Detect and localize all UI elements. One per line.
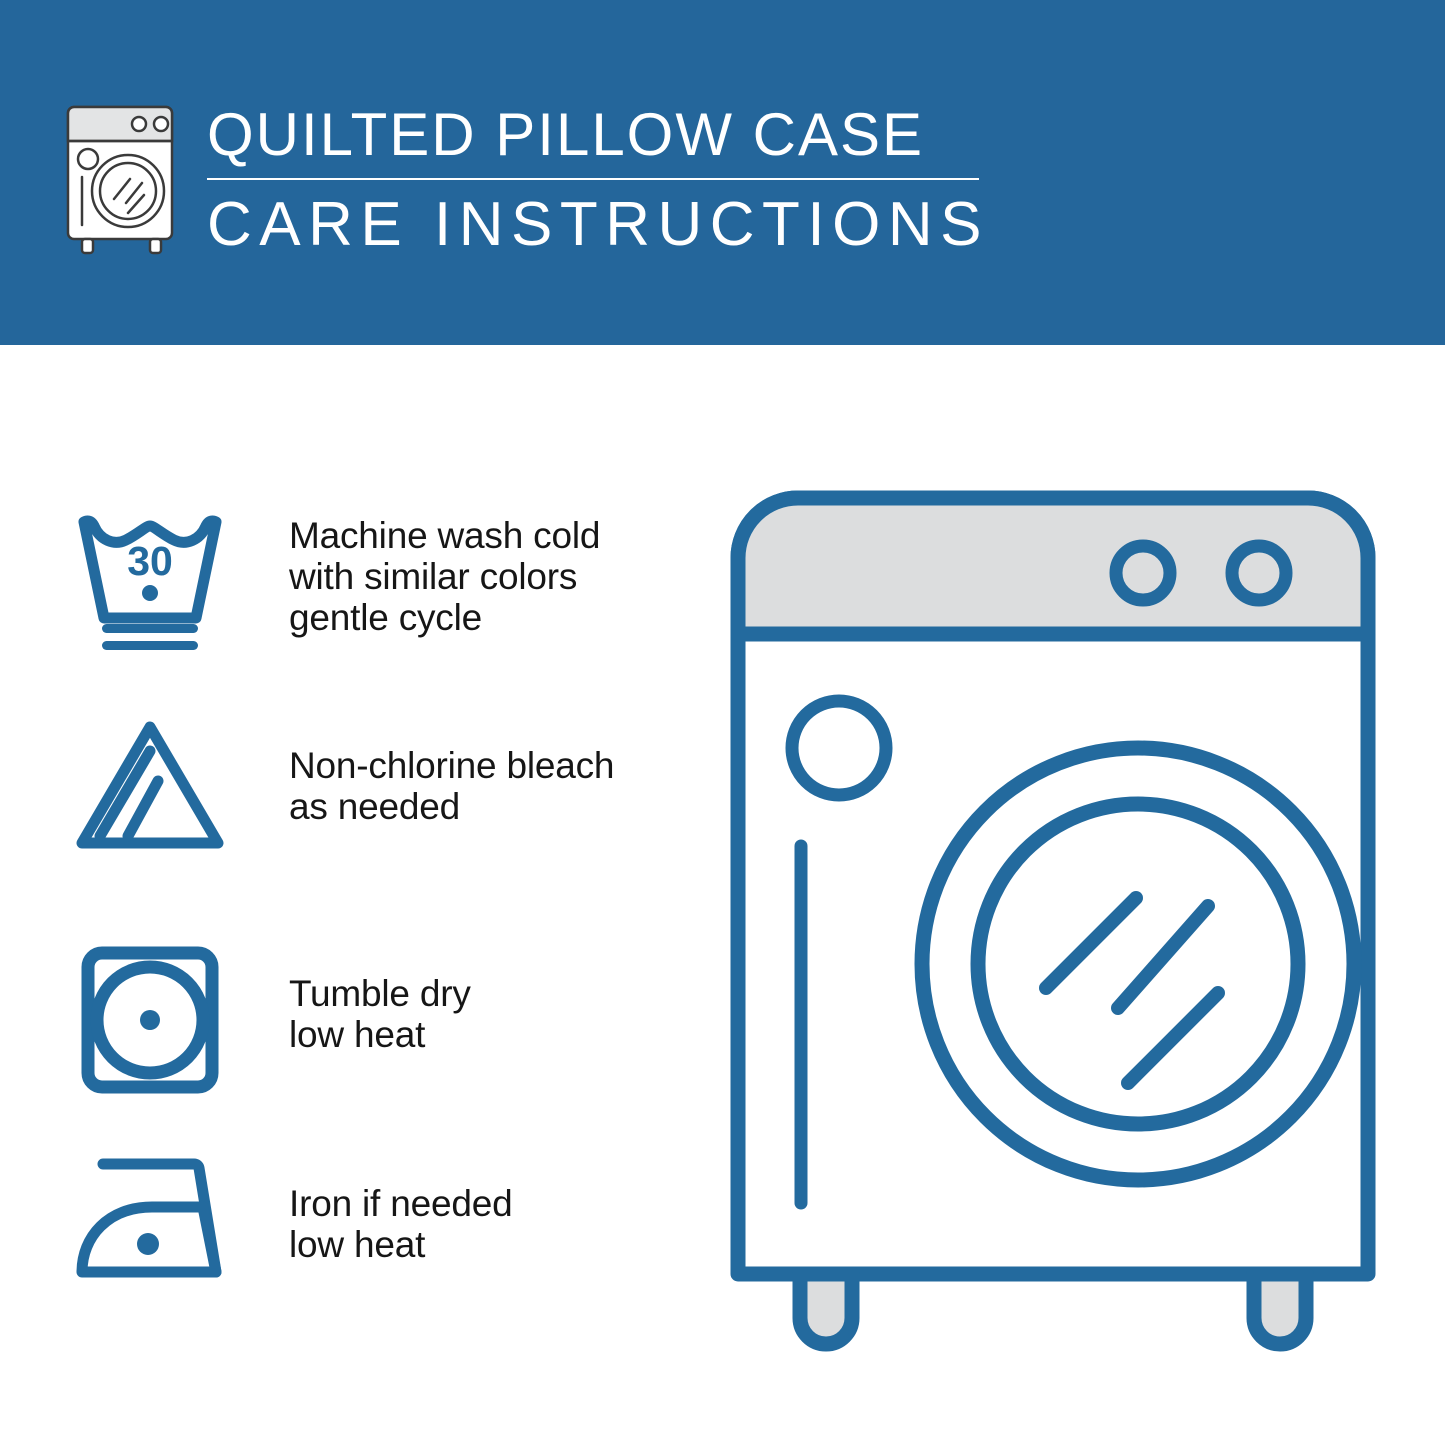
care-text-line: Iron if needed bbox=[289, 1183, 512, 1224]
care-instructions-page: QUILTED PILLOW CASE CARE INSTRUCTIONS 30… bbox=[0, 0, 1445, 1445]
care-text-line: Non-chlorine bleach bbox=[289, 745, 614, 786]
care-text-line: Tumble dry bbox=[289, 973, 471, 1014]
page-subtitle: CARE INSTRUCTIONS bbox=[207, 192, 997, 258]
knob-right bbox=[1232, 546, 1286, 600]
care-text-tumble-dry: Tumble dry low heat bbox=[289, 973, 471, 1055]
iron-low-heat-icon bbox=[70, 1145, 230, 1305]
care-text-line: gentle cycle bbox=[289, 597, 600, 638]
washing-machine-icon bbox=[62, 103, 184, 255]
detergent-dispenser-circle bbox=[792, 701, 886, 795]
care-text-line: low heat bbox=[289, 1224, 512, 1265]
page-title: QUILTED PILLOW CASE bbox=[207, 104, 997, 166]
tumble-dry-low-icon bbox=[70, 940, 230, 1100]
knob-left bbox=[1116, 546, 1170, 600]
title-divider bbox=[207, 178, 979, 180]
leg-right bbox=[1254, 1274, 1306, 1344]
non-chlorine-bleach-icon bbox=[70, 715, 230, 875]
care-text-line: low heat bbox=[289, 1014, 471, 1055]
leg-left bbox=[800, 1274, 852, 1344]
care-text-bleach: Non-chlorine bleach as needed bbox=[289, 745, 614, 827]
header-band: QUILTED PILLOW CASE CARE INSTRUCTIONS bbox=[0, 0, 1445, 345]
care-text-line: Machine wash cold bbox=[289, 515, 600, 556]
care-text-line: as needed bbox=[289, 786, 614, 827]
care-text-line: with similar colors bbox=[289, 556, 600, 597]
header-title-group: QUILTED PILLOW CASE CARE INSTRUCTIONS bbox=[207, 104, 997, 258]
machine-wash-30-gentle-icon: 30 bbox=[70, 500, 230, 660]
front-load-washing-machine-illustration bbox=[728, 488, 1378, 1360]
svg-text:30: 30 bbox=[127, 538, 173, 584]
care-text-iron: Iron if needed low heat bbox=[289, 1183, 512, 1265]
care-text-wash: Machine wash cold with similar colors ge… bbox=[289, 515, 600, 638]
